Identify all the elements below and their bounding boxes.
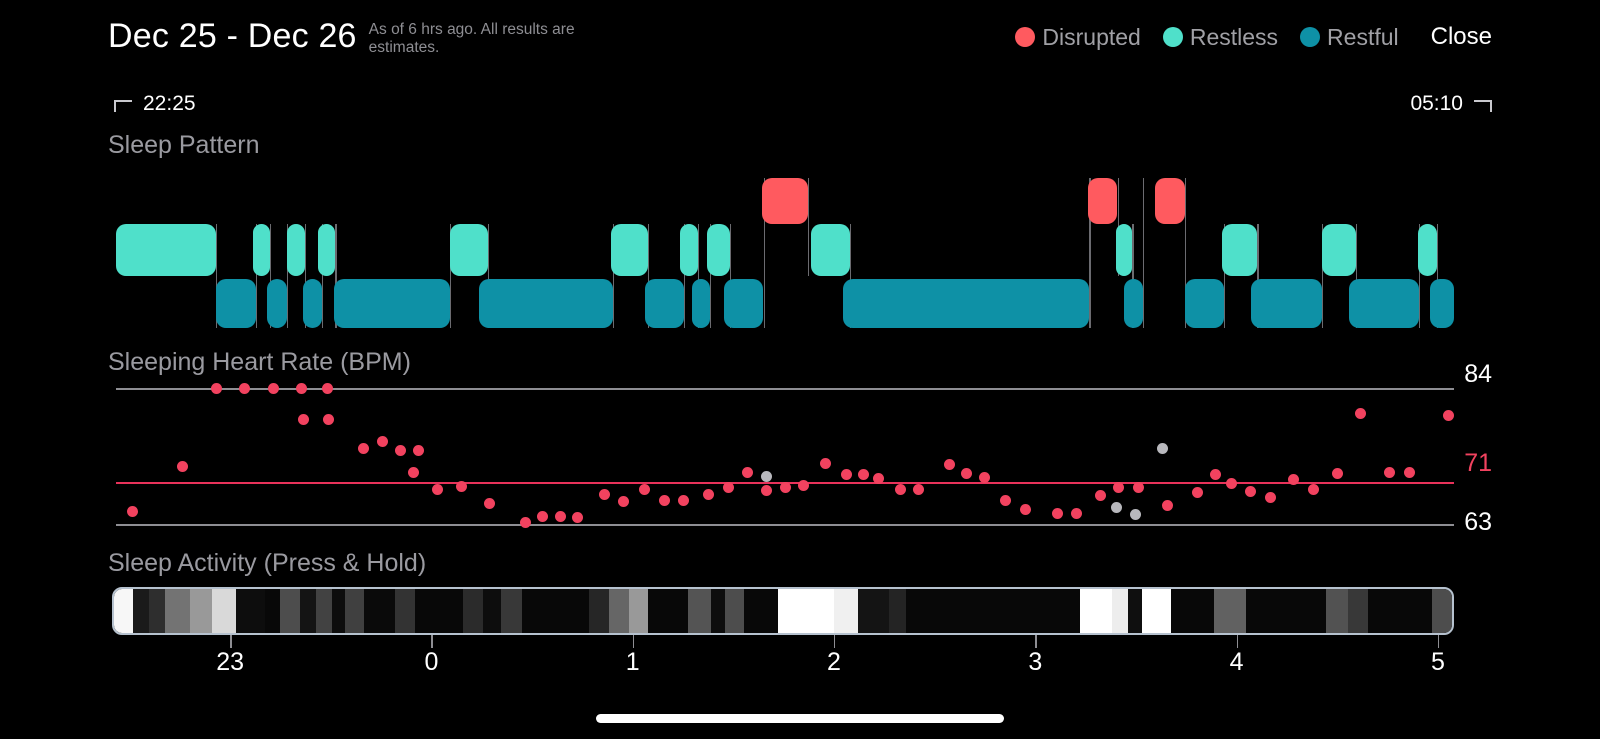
- sleep-activity-band: [725, 589, 744, 633]
- sleep-stage-segment-restful[interactable]: [1124, 279, 1143, 328]
- hr-data-point: [1095, 490, 1106, 501]
- legend: Disrupted Restless Restful Close: [993, 23, 1492, 51]
- heart-rate-title: Sleeping Heart Rate (BPM): [108, 348, 411, 377]
- sleep-activity-band: [316, 589, 332, 633]
- sleep-stage-segment-restful[interactable]: [843, 279, 1089, 328]
- x-axis-label: 3: [1028, 648, 1042, 677]
- x-axis-label: 0: [424, 648, 438, 677]
- hr-data-point: [268, 383, 279, 394]
- x-axis-label: 1: [626, 648, 640, 677]
- sleep-activity-band: [1214, 589, 1246, 633]
- sleep-activity-band: [415, 589, 463, 633]
- hr-data-point: [1130, 509, 1141, 520]
- sleep-activity-band: [648, 589, 688, 633]
- sleep-activity-band: [1326, 589, 1347, 633]
- legend-dot-icon: [1015, 27, 1035, 47]
- sleep-activity-band: [114, 589, 133, 633]
- hr-data-point: [1157, 443, 1168, 454]
- sleep-stage-segment-restless[interactable]: [1222, 224, 1257, 276]
- sleep-stage-segment-restless[interactable]: [450, 224, 488, 276]
- hr-data-point: [484, 498, 495, 509]
- hr-data-point: [1443, 410, 1454, 421]
- sleep-stage-segment-restless[interactable]: [253, 224, 269, 276]
- hr-data-point: [659, 495, 670, 506]
- sleep-stage-segment-restful[interactable]: [645, 279, 684, 328]
- sleep-activity-band: [1432, 589, 1452, 633]
- x-axis-label: 23: [216, 648, 244, 677]
- hr-data-point: [1245, 486, 1256, 497]
- hr-data-point: [1404, 467, 1415, 478]
- sleep-stage-segment-disrupted[interactable]: [1155, 178, 1185, 224]
- sleep-activity-band: [501, 589, 522, 633]
- x-axis: 23012345: [112, 635, 1454, 685]
- hr-data-point: [1071, 508, 1082, 519]
- hr-data-point: [1162, 500, 1173, 511]
- sleep-activity-band: [1171, 589, 1214, 633]
- sleep-activity-band: [1368, 589, 1432, 633]
- header: Dec 25 - Dec 26 As of 6 hrs ago. All res…: [108, 14, 1492, 70]
- sleep-activity-band: [711, 589, 726, 633]
- hr-data-point: [555, 511, 566, 522]
- hr-data-point: [979, 472, 990, 483]
- hr-data-point: [408, 467, 419, 478]
- sleep-activity-band: [332, 589, 345, 633]
- sleep-stage-segment-disrupted[interactable]: [762, 178, 808, 224]
- hr-data-point: [177, 461, 188, 472]
- hr-data-point: [944, 459, 955, 470]
- sleep-activity-band: [345, 589, 364, 633]
- hr-average-label: 71: [1464, 449, 1492, 478]
- sleep-stage-segment-restful[interactable]: [216, 279, 256, 328]
- hr-data-point: [1000, 495, 1011, 506]
- hr-data-point: [1226, 478, 1237, 489]
- sleep-activity-band: [778, 589, 834, 633]
- sleep-detail-screen: Dec 25 - Dec 26 As of 6 hrs ago. All res…: [0, 0, 1600, 739]
- hr-data-point: [820, 458, 831, 469]
- hr-data-point: [873, 473, 884, 484]
- sleep-activity-band: [149, 589, 165, 633]
- hr-data-point: [432, 484, 443, 495]
- x-axis-tick: [1438, 635, 1440, 648]
- bracket-start-icon: [114, 100, 132, 112]
- hr-data-point: [761, 485, 772, 496]
- hr-data-point: [358, 443, 369, 454]
- bracket-end-icon: [1474, 100, 1492, 112]
- sleep-stage-connector: [1143, 178, 1144, 328]
- sleep-activity-band: [165, 589, 190, 633]
- legend-dot-icon: [1163, 27, 1183, 47]
- close-button[interactable]: Close: [1431, 23, 1492, 51]
- sleep-activity-band: [1128, 589, 1141, 633]
- heart-rate-chart[interactable]: [116, 388, 1454, 526]
- sleep-start-time-label: 22:25: [143, 92, 196, 116]
- x-axis-tick: [834, 635, 836, 648]
- hr-data-point: [537, 511, 548, 522]
- sleep-stage-segment-restful[interactable]: [692, 279, 709, 328]
- sleep-stage-segment-restless[interactable]: [1418, 224, 1437, 276]
- hr-data-point: [322, 383, 333, 394]
- hr-data-point: [1355, 408, 1366, 419]
- hr-data-point: [298, 414, 309, 425]
- hr-data-point: [618, 496, 629, 507]
- sleep-activity-band: [483, 589, 500, 633]
- sleep-stage-connector: [808, 178, 809, 276]
- sleep-end-time: 05:10: [1410, 92, 1492, 116]
- hr-data-point: [1210, 469, 1221, 480]
- sleep-stage-segment-restless[interactable]: [611, 224, 647, 276]
- x-axis-tick: [1035, 635, 1037, 648]
- x-axis-label: 4: [1230, 648, 1244, 677]
- legend-item-restful[interactable]: Restful: [1300, 24, 1399, 51]
- sleep-activity-band: [629, 589, 648, 633]
- sleep-activity-band: [395, 589, 415, 633]
- sleep-activity-band: [236, 589, 265, 633]
- hr-data-point: [1113, 482, 1124, 493]
- legend-label-restless: Restless: [1190, 24, 1278, 51]
- hr-data-point: [413, 445, 424, 456]
- sleep-stage-segment-restless[interactable]: [1116, 224, 1132, 276]
- hr-data-point: [127, 506, 138, 517]
- sleep-activity-band: [906, 589, 1080, 633]
- sleep-stage-segment-restless[interactable]: [680, 224, 697, 276]
- legend-dot-icon: [1300, 27, 1320, 47]
- sleep-activity-band: [744, 589, 777, 633]
- x-axis-tick: [431, 635, 433, 648]
- page-title: Dec 25 - Dec 26: [108, 14, 357, 58]
- sleep-activity-band: [522, 589, 589, 633]
- hr-data-point: [1052, 508, 1063, 519]
- hr-data-point: [239, 383, 250, 394]
- sleep-activity-title: Sleep Activity (Press & Hold): [108, 549, 426, 578]
- hr-data-point: [1288, 474, 1299, 485]
- sleep-stage-segment-restless[interactable]: [1322, 224, 1356, 276]
- sleep-activity-band: [280, 589, 300, 633]
- hr-min-gridline: [116, 524, 1454, 526]
- x-axis-label: 5: [1431, 648, 1445, 677]
- x-axis-label: 2: [827, 648, 841, 677]
- hr-data-point: [1020, 504, 1031, 515]
- sleep-activity-band: [1142, 589, 1171, 633]
- sleep-stage-segment-restful[interactable]: [1251, 279, 1322, 328]
- sleep-activity-band: [190, 589, 211, 633]
- hr-data-point: [841, 469, 852, 480]
- hr-data-point: [1332, 468, 1343, 479]
- sleep-stage-segment-restful[interactable]: [1430, 279, 1454, 328]
- hr-data-point: [913, 484, 924, 495]
- hr-data-point: [323, 414, 334, 425]
- sleep-stage-segment-restful[interactable]: [479, 279, 612, 328]
- sleep-activity-band: [1246, 589, 1326, 633]
- hr-data-point: [895, 484, 906, 495]
- hr-data-point: [211, 383, 222, 394]
- sleep-activity-band: [889, 589, 906, 633]
- sleep-stage-segment-restful[interactable]: [303, 279, 322, 328]
- as-of-note: As of 6 hrs ago. All results are estimat…: [369, 21, 629, 57]
- time-range-row: 22:25 05:10: [108, 92, 1492, 122]
- hr-data-point: [599, 489, 610, 500]
- hr-data-point: [377, 436, 388, 447]
- sleep-activity-band: [834, 589, 858, 633]
- sleep-stage-segment-restless[interactable]: [707, 224, 730, 276]
- x-axis-tick: [633, 635, 635, 648]
- sleep-stage-segment-restful[interactable]: [724, 279, 763, 328]
- hr-data-point: [639, 484, 650, 495]
- hr-data-point: [780, 482, 791, 493]
- sleep-start-time: 22:25: [114, 92, 196, 116]
- hr-data-point: [1265, 492, 1276, 503]
- hr-data-point: [296, 383, 307, 394]
- hr-data-point: [1133, 482, 1144, 493]
- sleep-activity-band: [609, 589, 629, 633]
- sleep-activity-band: [265, 589, 280, 633]
- hr-data-point: [961, 468, 972, 479]
- sleep-stage-segment-restful[interactable]: [1185, 279, 1224, 328]
- hr-data-point: [678, 495, 689, 506]
- legend-label-restful: Restful: [1327, 24, 1399, 51]
- hr-max-label: 84: [1464, 360, 1492, 389]
- sleep-stage-segment-disrupted[interactable]: [1088, 178, 1118, 224]
- sleep-activity-band: [300, 589, 316, 633]
- sleep-activity-bands: [114, 589, 1452, 633]
- hr-data-point: [395, 445, 406, 456]
- hr-data-point: [520, 517, 531, 528]
- sleep-activity-band: [212, 589, 236, 633]
- hr-data-point: [723, 482, 734, 493]
- hr-data-point: [1308, 484, 1319, 495]
- hr-data-point: [858, 469, 869, 480]
- sleep-activity-band: [1348, 589, 1368, 633]
- sleep-stage-segment-restless[interactable]: [116, 224, 216, 276]
- hr-data-point: [742, 467, 753, 478]
- sleep-activity-band: [688, 589, 711, 633]
- home-indicator[interactable]: [596, 714, 1004, 723]
- hr-data-point: [798, 480, 809, 491]
- hr-min-label: 63: [1464, 508, 1492, 537]
- hr-max-gridline: [116, 388, 1454, 390]
- sleep-activity-band: [463, 589, 483, 633]
- sleep-stage-segment-restful[interactable]: [267, 279, 287, 328]
- hr-data-point: [1192, 487, 1203, 498]
- hr-data-point: [1111, 502, 1122, 513]
- hr-data-point: [1384, 467, 1395, 478]
- legend-label-disrupted: Disrupted: [1042, 24, 1140, 51]
- sleep-stage-segment-restless[interactable]: [287, 224, 304, 276]
- sleep-stage-segment-restful[interactable]: [334, 279, 450, 328]
- legend-item-disrupted[interactable]: Disrupted: [1015, 24, 1140, 51]
- sleep-pattern-title: Sleep Pattern: [108, 131, 260, 160]
- sleep-activity-band: [1112, 589, 1128, 633]
- sleep-activity-band: [1080, 589, 1112, 633]
- hr-data-point: [703, 489, 714, 500]
- legend-item-restless[interactable]: Restless: [1163, 24, 1278, 51]
- hr-data-point: [572, 512, 583, 523]
- sleep-stage-segment-restless[interactable]: [318, 224, 335, 276]
- x-axis-tick: [1237, 635, 1239, 648]
- hr-data-point: [456, 481, 467, 492]
- sleep-activity-band: [858, 589, 889, 633]
- sleep-pattern-chart[interactable]: [108, 168, 1454, 328]
- sleep-activity-band: [133, 589, 149, 633]
- header-title-group: Dec 25 - Dec 26 As of 6 hrs ago. All res…: [108, 14, 629, 58]
- sleep-activity-band: [589, 589, 609, 633]
- sleep-stage-segment-restless[interactable]: [811, 224, 850, 276]
- hr-data-point: [761, 471, 772, 482]
- sleep-activity-bar[interactable]: [112, 587, 1454, 635]
- sleep-activity-band: [364, 589, 395, 633]
- sleep-stage-segment-restful[interactable]: [1349, 279, 1419, 328]
- sleep-end-time-label: 05:10: [1410, 92, 1463, 116]
- x-axis-tick: [230, 635, 232, 648]
